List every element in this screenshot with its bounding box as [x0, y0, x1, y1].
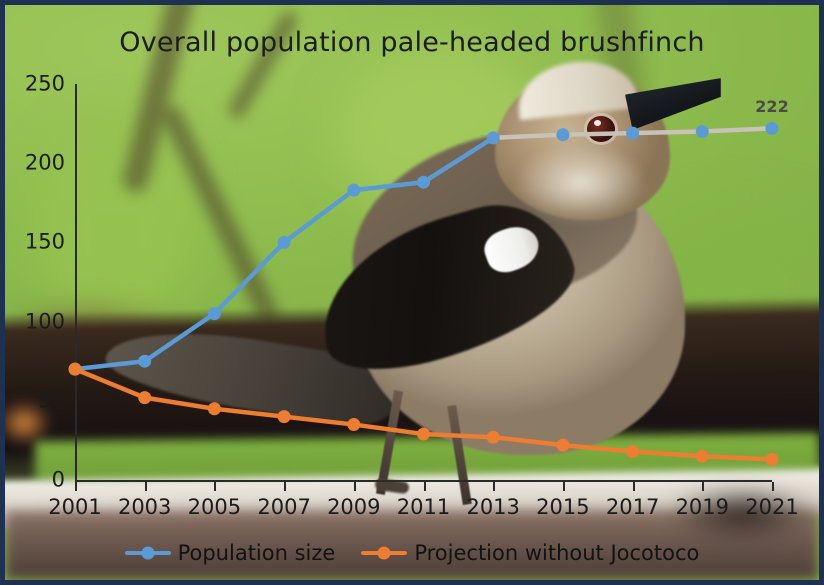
data-point[interactable] — [278, 410, 291, 423]
legend-item-population-size[interactable]: Population size — [125, 541, 336, 565]
data-point[interactable] — [417, 428, 430, 441]
data-point[interactable] — [417, 176, 430, 189]
data-point[interactable] — [487, 431, 500, 444]
chart-legend: Population size Projection without Jocot… — [5, 541, 819, 565]
data-point[interactable] — [208, 307, 221, 320]
legend-swatch-orange — [361, 545, 407, 561]
data-point[interactable] — [138, 391, 151, 404]
data-point[interactable] — [69, 363, 82, 376]
data-point[interactable] — [766, 453, 779, 466]
series-line-population-size — [75, 138, 493, 369]
data-point[interactable] — [766, 122, 779, 135]
legend-label: Projection without Jocotoco — [414, 541, 699, 565]
data-point[interactable] — [696, 125, 709, 138]
data-point[interactable] — [278, 236, 291, 249]
data-point[interactable] — [487, 131, 500, 144]
data-point[interactable] — [556, 439, 569, 452]
data-point[interactable] — [626, 445, 639, 458]
data-point-label: 222 — [755, 97, 788, 116]
series-plot — [5, 5, 824, 585]
plot-area: Overall population pale-headed brushfinc… — [5, 5, 819, 580]
data-point[interactable] — [556, 128, 569, 141]
legend-label: Population size — [178, 541, 336, 565]
data-point[interactable] — [347, 418, 360, 431]
data-point[interactable] — [208, 402, 221, 415]
chart-container: Overall population pale-headed brushfinc… — [0, 0, 824, 585]
legend-item-projection-without-jocotoco[interactable]: Projection without Jocotoco — [361, 541, 699, 565]
data-point[interactable] — [626, 127, 639, 140]
data-point[interactable] — [347, 184, 360, 197]
data-point[interactable] — [696, 450, 709, 463]
legend-swatch-blue — [125, 545, 171, 561]
series-line-projection-without-jocotoco — [75, 369, 772, 459]
data-point[interactable] — [138, 355, 151, 368]
